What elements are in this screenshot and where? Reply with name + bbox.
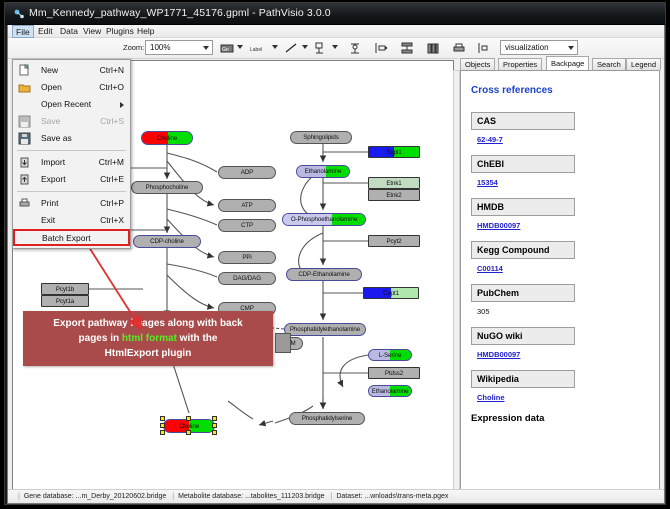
- tab-objects[interactable]: Objects: [460, 58, 495, 70]
- pathway-node-etnk2[interactable]: Etnk2: [368, 189, 420, 201]
- gene-db-value: ...m_Derby_20120602.bridge: [76, 493, 167, 500]
- line-tool-icon[interactable]: [284, 41, 298, 55]
- xref-value-chebi[interactable]: 15354: [477, 178, 649, 187]
- pathway-node-label: Pcyt1a: [56, 298, 74, 305]
- xref-source-pubchem: PubChem: [471, 284, 575, 302]
- annotation-line-2a: pages in: [79, 333, 122, 344]
- pathway-node-cdp-eth[interactable]: CDP-Ethanolamine: [286, 268, 362, 281]
- window-title: Mm_Kennedy_pathway_WP1771_45176.gpml - P…: [29, 7, 331, 19]
- receptor-tool-icon[interactable]: [314, 41, 328, 55]
- xref-value-wikipedia[interactable]: Choline: [477, 393, 649, 402]
- pathway-node-label: Sgpl1: [386, 149, 401, 156]
- zoom-value: 100%: [150, 43, 170, 52]
- tab-properties[interactable]: Properties: [498, 58, 542, 70]
- pathway-node-label: ADP: [241, 169, 253, 176]
- app-client-area: File Edit Data View Plugins Help Zoom: 1…: [7, 25, 665, 504]
- annotation-line-3: HtmlExport plugin: [29, 346, 267, 361]
- svg-text:Gn: Gn: [222, 47, 229, 53]
- pathway-node-label: Phosphocholine: [146, 184, 189, 191]
- file-menu-item-label: Save: [41, 113, 60, 130]
- line-dropdown-icon[interactable]: [302, 45, 308, 49]
- menu-separator: [17, 150, 126, 151]
- file-menu-item-batch-export[interactable]: Batch Export: [13, 229, 130, 246]
- dataset-label: Dataset:: [336, 493, 362, 500]
- annotation-highlight: html format: [122, 333, 177, 344]
- xref-value-hmdb[interactable]: HMDB00097: [477, 221, 649, 230]
- file-menu-item-label: Export: [41, 171, 66, 188]
- pathway-node-adp[interactable]: ADP: [218, 166, 276, 179]
- pathway-node-label: CDP-Ethanolamine: [298, 271, 349, 278]
- chevron-right-icon: [120, 102, 124, 108]
- file-menu-item-exit[interactable]: ExitCtrl+X: [13, 212, 130, 229]
- pathway-node-ctp[interactable]: CTP: [218, 219, 276, 232]
- annotation-line-2c: with the: [177, 333, 218, 344]
- file-menu-item-save-as[interactable]: Save as: [13, 130, 130, 147]
- file-menu-item-accelerator: Ctrl+S: [100, 113, 124, 130]
- pathway-node-label: Phosphatidylethanolamine: [290, 326, 360, 333]
- backpage-scrollbar[interactable]: [453, 70, 460, 490]
- dataset-value: ...wnloads\trans-meta.pgex: [364, 493, 448, 500]
- pathway-node-l-serine[interactable]: L-Serine: [368, 349, 412, 361]
- selection-handle[interactable]: [212, 430, 217, 435]
- file-menu-item-label: New: [41, 62, 58, 79]
- new-file-icon: [19, 65, 30, 76]
- svg-text:Label: Label: [250, 47, 262, 53]
- pathway-node-dagdag[interactable]: DAG/DAG: [218, 272, 276, 285]
- selection-handle[interactable]: [186, 430, 191, 435]
- file-menu-item-accelerator: Ctrl+P: [100, 195, 124, 212]
- pathway-node-label: Choline: [157, 135, 177, 142]
- xref-source-cas: CAS: [471, 112, 575, 130]
- pathway-node-label: Pcyt2: [387, 238, 402, 245]
- annotation-callout: Export pathway images along with back pa…: [23, 311, 273, 366]
- file-menu-item-label: Import: [41, 154, 65, 171]
- file-menu-dropdown[interactable]: NewCtrl+NOpenCtrl+OOpen RecentSaveCtrl+S…: [12, 59, 131, 249]
- pathway-node-ptd-serine[interactable]: Phosphatidylserine: [289, 412, 365, 425]
- metabolite-db-value: ...tabolites_111203.bridge: [245, 493, 325, 500]
- screenshot-root: Mm_Kennedy_pathway_WP1771_45176.gpml - P…: [0, 0, 670, 509]
- save-as-icon: [19, 133, 30, 144]
- pathway-node-sgpl1[interactable]: Sgpl1: [368, 146, 420, 158]
- datanode-tool-icon[interactable]: Gn: [220, 41, 234, 55]
- pathvisio-icon: [13, 8, 25, 20]
- save-icon: [19, 116, 30, 127]
- pathway-node-label: L-Serine: [379, 352, 402, 359]
- zoom-combobox[interactable]: 100%: [145, 40, 213, 55]
- file-menu-item-accelerator: Ctrl+X: [100, 212, 124, 229]
- visualization-value: visualization: [505, 43, 549, 52]
- file-menu-item-accelerator: Ctrl+N: [100, 62, 124, 79]
- pathway-node-sphingolipids[interactable]: Sphingolipids: [290, 131, 352, 144]
- zoom-label: Zoom:: [123, 43, 144, 52]
- selection-handle[interactable]: [160, 416, 165, 421]
- annotation-line-1: Export pathway images along with back: [29, 316, 267, 331]
- xref-value-cas[interactable]: 62-49-7: [477, 135, 649, 144]
- xref-value-pubchem: 305: [477, 307, 649, 316]
- selection-handle[interactable]: [186, 416, 191, 421]
- pathway-node-ethanolamine[interactable]: Ethanolamine: [296, 165, 350, 178]
- pathway-node-label: Pcyt1b: [56, 286, 74, 293]
- backpage-heading: Cross references: [471, 85, 649, 96]
- receptor-dropdown-icon[interactable]: [332, 45, 338, 49]
- selection-handle[interactable]: [160, 430, 165, 435]
- stack-horizontal-icon[interactable]: [426, 41, 440, 55]
- pathway-node-phosphocholine[interactable]: Phosphocholine: [131, 181, 203, 194]
- pathway-node-label: CDP-choline: [150, 238, 184, 245]
- pathway-node-atp[interactable]: ATP: [218, 199, 276, 212]
- pathway-node-cdp-choline[interactable]: CDP-choline: [133, 235, 201, 248]
- export-icon: [19, 174, 30, 185]
- file-menu-item-label: Open: [41, 79, 62, 96]
- xref-source-chebi: ChEBI: [471, 155, 575, 173]
- pathway-node-label: CTP: [241, 222, 253, 229]
- backpage-content: Cross references CAS62-49-7ChEBI15354HMD…: [460, 70, 660, 490]
- selection-handle[interactable]: [212, 423, 217, 428]
- menu-separator: [17, 191, 126, 192]
- file-menu-item-new[interactable]: NewCtrl+N: [13, 62, 130, 79]
- align-top-icon[interactable]: [348, 41, 362, 55]
- pathway-node-label: Etnk1: [386, 180, 401, 187]
- pathway-node-pcyt2[interactable]: Pcyt2: [368, 235, 420, 247]
- menu-edit[interactable]: Edit: [35, 26, 56, 37]
- selection-handle[interactable]: [212, 416, 217, 421]
- chevron-down-icon: [568, 46, 574, 50]
- file-menu-item-accelerator: Ctrl+O: [99, 79, 124, 96]
- pathway-node-label: Etnk2: [386, 192, 401, 199]
- open-folder-icon: [19, 82, 30, 93]
- pathway-node-o-phospho-eth[interactable]: O-Phosphoethanolamine: [282, 213, 366, 226]
- xref-source-kegg-compound: Kegg Compound: [471, 241, 575, 259]
- xref-source-hmdb: HMDB: [471, 198, 575, 216]
- selection-handle[interactable]: [160, 423, 165, 428]
- file-menu-item-label: Batch Export: [42, 230, 91, 247]
- tab-search[interactable]: Search: [592, 58, 626, 70]
- menu-help[interactable]: Help: [134, 26, 157, 37]
- align-left-icon[interactable]: [374, 41, 388, 55]
- pathway-node-choline[interactable]: Choline: [141, 131, 193, 145]
- pathway-node-ppi[interactable]: PPi: [218, 251, 276, 264]
- stack-vertical-icon[interactable]: [400, 41, 414, 55]
- file-menu-item-open-recent[interactable]: Open Recent: [13, 96, 130, 113]
- xref-source-nugo-wiki: NuGO wiki: [471, 327, 575, 345]
- xref-value-kegg-compound[interactable]: C00114: [477, 264, 649, 273]
- visualization-combobox[interactable]: visualization: [500, 40, 578, 55]
- file-menu-item-label: Exit: [41, 212, 55, 229]
- print-icon: [19, 198, 30, 209]
- pathway-node-ptd-eth[interactable]: Phosphatidylethanolamine: [284, 323, 366, 336]
- pathway-node-ethanolamine2[interactable]: Ethanolamine: [368, 385, 412, 397]
- annotation-line-2: pages in html format with the: [29, 331, 267, 346]
- cross-reference-list: CAS62-49-7ChEBI15354HMDBHMDB00097Kegg Co…: [471, 112, 649, 402]
- file-menu-item-label: Save as: [41, 130, 72, 147]
- xref-value-nugo-wiki[interactable]: HMDB00097: [477, 350, 649, 359]
- menu-file[interactable]: File: [12, 25, 34, 38]
- menu-data[interactable]: Data: [57, 26, 81, 37]
- pathway-node-label: Ethanolamine: [305, 168, 342, 175]
- metabolite-db-label: Metabolite database:: [178, 493, 243, 500]
- file-menu-item-print[interactable]: PrintCtrl+P: [13, 195, 130, 212]
- tab-backpage[interactable]: Backpage: [546, 56, 589, 70]
- file-menu-item-label: Print: [41, 195, 58, 212]
- print-toolbar-icon[interactable]: [452, 41, 466, 55]
- xref-source-wikipedia: Wikipedia: [471, 370, 575, 388]
- pathway-node-pcyt1a[interactable]: Pcyt1a: [41, 295, 89, 307]
- pathway-node-ptdss2[interactable]: Ptdss2: [368, 367, 420, 379]
- label-tool-icon[interactable]: Label: [249, 41, 271, 55]
- pathway-node-label: Choline: [179, 423, 199, 430]
- pathway-node-label: Sphingolipids: [303, 134, 339, 141]
- file-menu-item-save: SaveCtrl+S: [13, 113, 130, 130]
- menubar: File Edit Data View Plugins Help: [8, 25, 664, 38]
- file-menu-item-open[interactable]: OpenCtrl+O: [13, 79, 130, 96]
- chevron-down-icon: [203, 46, 209, 50]
- pathway-node-label: Cept1: [383, 290, 399, 297]
- file-menu-item-accelerator: Ctrl+M: [99, 154, 124, 171]
- window-titlebar: Mm_Kennedy_pathway_WP1771_45176.gpml - P…: [5, 3, 665, 25]
- file-menu-item-label: Open Recent: [41, 96, 91, 113]
- pathway-node-label: DAG/DAG: [233, 275, 261, 282]
- menu-plugins[interactable]: Plugins: [103, 26, 137, 37]
- pathway-node-label: PPi: [242, 254, 251, 261]
- file-menu-item-export[interactable]: ExportCtrl+E: [13, 171, 130, 188]
- pathway-node-label: Phosphatidylserine: [302, 415, 352, 422]
- menu-view[interactable]: View: [80, 26, 104, 37]
- datanode-dropdown-icon[interactable]: [237, 45, 243, 49]
- statusbar: |Gene database: ...m_Derby_20120602.brid…: [8, 489, 664, 503]
- pathway-node-label: Ptdss2: [385, 370, 403, 377]
- expression-data-heading: Expression data: [471, 413, 649, 424]
- gene-db-label: Gene database:: [24, 493, 74, 500]
- application-window: Mm_Kennedy_pathway_WP1771_45176.gpml - P…: [4, 2, 666, 505]
- label-dropdown-icon[interactable]: [272, 45, 278, 49]
- file-menu-item-import[interactable]: ImportCtrl+M: [13, 154, 130, 171]
- pathway-node-label: ATP: [241, 202, 252, 209]
- file-menu-item-accelerator: Ctrl+E: [100, 171, 124, 188]
- side-panel: Objects Properties Backpage Search Legen…: [458, 56, 662, 492]
- pathway-node-pcyt1b[interactable]: Pcyt1b: [41, 283, 89, 295]
- same-width-icon[interactable]: [476, 41, 490, 55]
- tab-legend[interactable]: Legend: [626, 58, 661, 70]
- import-icon: [19, 157, 30, 168]
- pathway-node-etnk1[interactable]: Etnk1: [368, 177, 420, 189]
- pathway-node-cept1[interactable]: Cept1: [363, 287, 419, 299]
- pathway-node-label: Ethanolamine: [372, 388, 409, 395]
- pathway-anchor-box: [275, 333, 291, 353]
- pathway-node-label: O-Phosphoethanolamine: [291, 216, 357, 223]
